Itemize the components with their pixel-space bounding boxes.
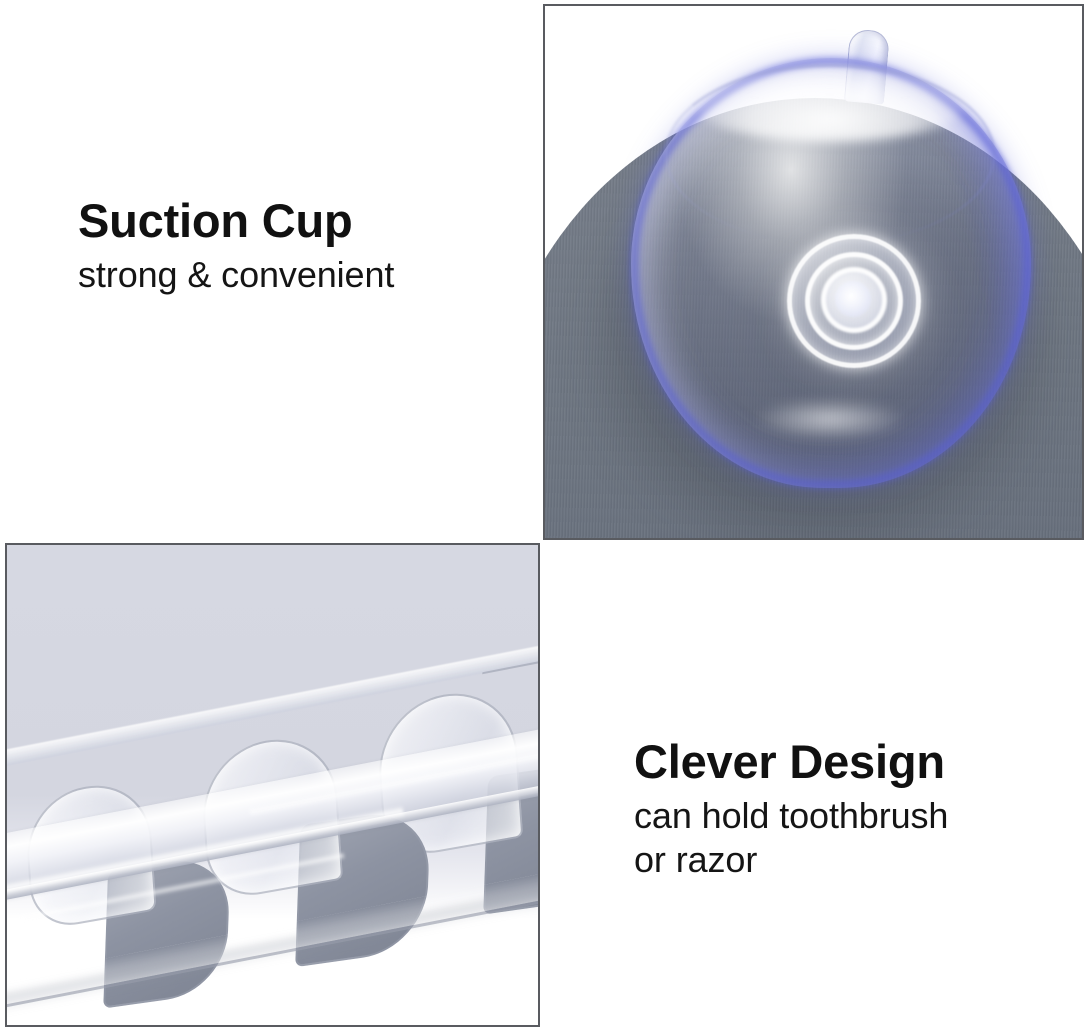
feature-subtitle-suction-cup: strong & convenient — [78, 253, 518, 297]
feature-title-clever-design: Clever Design — [634, 737, 1054, 788]
feature-text-suction-cup: Suction Cup strong & convenient — [78, 196, 518, 297]
product-feature-infographic: Suction Cup strong & convenient — [0, 0, 1086, 1027]
suction-cup-center-rings — [787, 234, 921, 368]
feature-subtitle-line: strong & convenient — [78, 253, 518, 297]
feature-subtitle-line: or razor — [634, 838, 1054, 882]
suction-cup-photo — [543, 4, 1084, 540]
suction-cup-top-highlight — [695, 68, 965, 142]
feature-subtitle-clever-design: can hold toothbrush or razor — [634, 794, 1054, 882]
acrylic-holder-object — [7, 545, 540, 1027]
feature-subtitle-line: can hold toothbrush — [634, 794, 1054, 838]
feature-title-suction-cup: Suction Cup — [78, 196, 518, 247]
suction-cup-lower-highlight — [755, 398, 905, 440]
feature-text-clever-design: Clever Design can hold toothbrush or raz… — [634, 737, 1054, 882]
center-ring-core — [835, 281, 871, 317]
acrylic-holder-photo — [5, 543, 540, 1027]
